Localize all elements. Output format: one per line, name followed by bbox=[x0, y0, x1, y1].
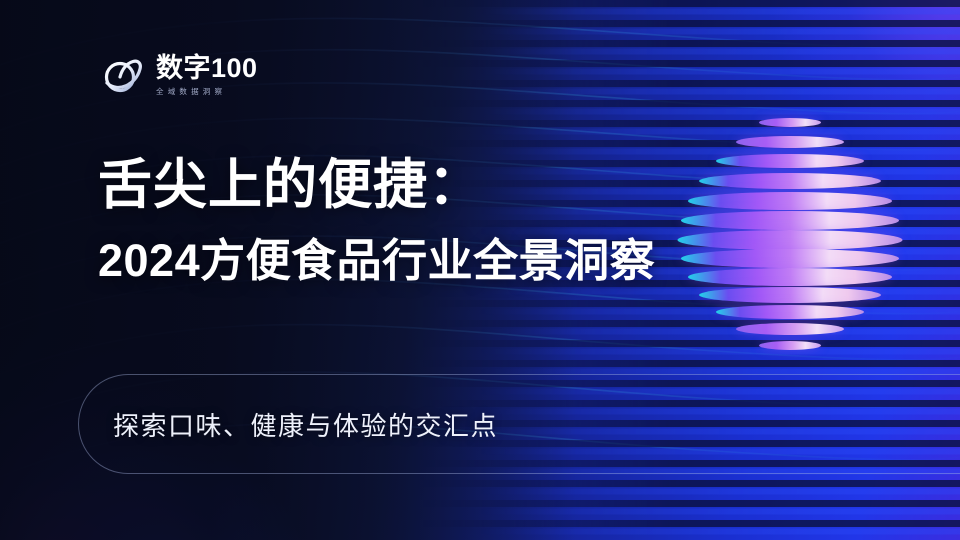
sphere-ring-12 bbox=[736, 323, 844, 335]
title-line-1: 舌尖上的便捷： bbox=[98, 150, 738, 220]
brand-name: 数字100 bbox=[156, 55, 258, 83]
subtitle-pill: 探索口味、健康与体验的交汇点 bbox=[78, 374, 960, 474]
sphere-ring-11 bbox=[716, 305, 864, 319]
sphere-ring-1 bbox=[759, 118, 821, 127]
page-title: 舌尖上的便捷： 2024方便食品行业全景洞察 bbox=[98, 150, 738, 294]
brand-logo: 数字100 全域数据洞察 bbox=[98, 52, 258, 100]
orbit-sphere-logo-icon bbox=[98, 52, 146, 100]
sphere-ring-13 bbox=[759, 341, 821, 350]
slide-canvas: 数字100 全域数据洞察 舌尖上的便捷： 2024方便食品行业全景洞察 探索口味… bbox=[0, 0, 960, 540]
sphere-ring-3 bbox=[716, 154, 864, 168]
sphere-ring-2 bbox=[736, 136, 844, 148]
title-line-2: 2024方便食品行业全景洞察 bbox=[98, 228, 738, 294]
brand-tagline: 全域数据洞察 bbox=[156, 86, 258, 97]
subtitle-text: 探索口味、健康与体验的交汇点 bbox=[113, 406, 498, 443]
